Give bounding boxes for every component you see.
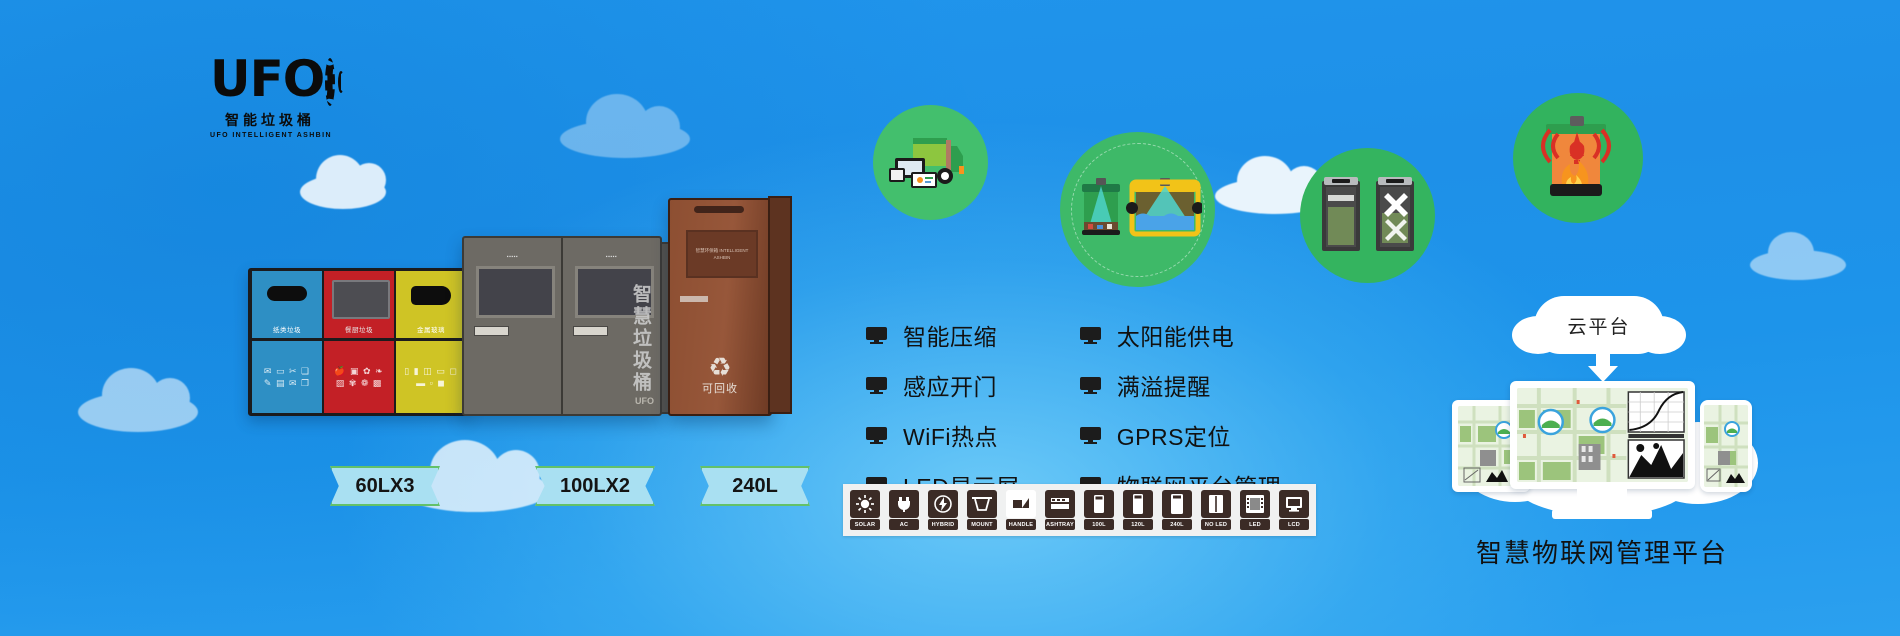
bin-hatch bbox=[476, 266, 556, 318]
product-triple-bin: 纸类垃圾 ✉ ▭ ✂ ❏ ✎ ▤ ✉ ❐ 餐厨垃圾 🍎 ▣ ✿ ❧ ▨ ✾ ❁ … bbox=[248, 268, 470, 416]
product-double-bin: ▪▪▪▪▪ ▪▪▪▪▪ 智慧垃圾桶 UFO bbox=[462, 236, 662, 416]
lcd-icon bbox=[1279, 490, 1309, 518]
bin-half-left: ▪▪▪▪▪ bbox=[464, 238, 563, 414]
bin-panel-paper: 纸类垃圾 ✉ ▭ ✂ ❏ ✎ ▤ ✉ ❐ bbox=[252, 271, 322, 413]
hybrid-bolt-icon bbox=[928, 490, 958, 518]
spec-icon-label: HYBRID bbox=[928, 519, 958, 530]
device-monitor bbox=[1510, 381, 1695, 489]
bin-panel-label: 纸类垃圾 bbox=[273, 324, 301, 338]
phone-screen bbox=[1704, 405, 1748, 487]
feature-circle-fill-level bbox=[1060, 132, 1215, 287]
recycle-label: 可回收 bbox=[670, 380, 770, 396]
product-single-bin: 智慧环保箱 INTELLIGENT ASHBIN ♻ 可回收 bbox=[668, 198, 772, 416]
monitor-stand bbox=[1577, 489, 1627, 511]
spec-icon-no-led: NO LED bbox=[1201, 490, 1231, 530]
feature-list: 智能压缩 感应开门 WiFi热点 LED显示屏 太阳能供电 满溢提醒 bbox=[866, 318, 1281, 502]
garbage-truck-icon bbox=[887, 132, 975, 194]
feature-column-right: 太阳能供电 满溢提醒 GPRS定位 物联网平台管理 bbox=[1080, 318, 1282, 502]
spec-icon-lcd: LCD bbox=[1279, 490, 1309, 530]
spec-icon-led: LED bbox=[1240, 490, 1270, 530]
monitor-icon bbox=[1080, 377, 1101, 394]
spec-icon-ashtray: ASHTRAY bbox=[1045, 490, 1075, 530]
spec-icon-ac: AC bbox=[889, 490, 919, 530]
feature-item: 感应开门 bbox=[866, 368, 1020, 402]
logo-chinese-name: 智能垃圾桶 bbox=[210, 110, 330, 130]
monitor-icon bbox=[866, 327, 887, 344]
feature-label: 智能压缩 bbox=[903, 318, 997, 352]
bin-240l-icon bbox=[1162, 490, 1192, 518]
spec-icon-label: SOLAR bbox=[850, 519, 880, 530]
bin-panel-graphic: ▯ ▮ ◫ ▭ ◻ ▬ ▫ ◼ bbox=[396, 338, 466, 413]
feature-circle-fire-alarm bbox=[1513, 93, 1643, 223]
spec-icon-solar: SOLAR bbox=[850, 490, 880, 530]
cloud-decor bbox=[560, 120, 690, 158]
bin-panel-label: 金属玻璃 bbox=[417, 324, 445, 338]
feature-label: 感应开门 bbox=[903, 368, 997, 402]
feature-column-left: 智能压缩 感应开门 WiFi热点 LED显示屏 bbox=[866, 318, 1020, 502]
bin-side-panel bbox=[768, 196, 792, 414]
led-icon bbox=[1240, 490, 1270, 518]
feature-label: WiFi热点 bbox=[903, 418, 998, 452]
monitor-icon bbox=[866, 377, 887, 394]
platform-caption: 智慧物联网管理平台 bbox=[1432, 533, 1772, 570]
spec-icon-label: ASHTRAY bbox=[1045, 519, 1075, 530]
ufo-ring-icon bbox=[325, 58, 335, 106]
bin-ufo-badge: UFO bbox=[635, 396, 654, 406]
bin-header-text: ▪▪▪▪▪ bbox=[575, 254, 649, 260]
bin-half-right: ▪▪▪▪▪ 智慧垃圾桶 UFO bbox=[563, 238, 660, 414]
monitor-screen bbox=[1517, 388, 1688, 482]
card-slot-icon bbox=[680, 296, 708, 302]
handle-icon bbox=[1006, 490, 1036, 518]
spec-icon-label: 120L bbox=[1123, 519, 1153, 530]
spec-icon-100l: 100L bbox=[1084, 490, 1114, 530]
monitor-icon bbox=[866, 427, 887, 444]
feature-item: 太阳能供电 bbox=[1080, 318, 1282, 352]
capacity-banner-240l: 240L bbox=[700, 466, 810, 506]
capacity-banner-60lx3: 60LX3 bbox=[330, 466, 440, 506]
spec-icon-120l: 120L bbox=[1123, 490, 1153, 530]
feature-label: GPRS定位 bbox=[1117, 418, 1231, 452]
bin-fill-sensor-icon bbox=[1074, 172, 1202, 248]
spec-icon-label: 240L bbox=[1162, 519, 1192, 530]
spec-icon-label: MOUNT bbox=[967, 519, 997, 530]
spec-icon-mount: MOUNT bbox=[967, 490, 997, 530]
iot-platform-illustration: 云平台 bbox=[1452, 296, 1752, 546]
feature-item: WiFi热点 bbox=[866, 418, 1020, 452]
spec-icon-240l: 240L bbox=[1162, 490, 1192, 530]
cloud-decor bbox=[300, 175, 386, 209]
lid-slot-icon bbox=[694, 206, 744, 213]
cloud-decor bbox=[78, 392, 198, 432]
cloud-platform-label: 云平台 bbox=[1567, 312, 1630, 339]
capacity-banner-100lx2: 100LX2 bbox=[535, 466, 655, 506]
bin-panel-label: 餐厨垃圾 bbox=[345, 324, 373, 338]
monitor-base bbox=[1552, 509, 1652, 519]
brand-logo: UFO 智能垃圾桶 UFO INTELLIGENT ASHBIN bbox=[210, 58, 330, 139]
no-led-icon bbox=[1201, 490, 1231, 518]
waste-slot-icon bbox=[267, 286, 306, 301]
card-slot-icon bbox=[573, 326, 608, 336]
spec-icon-label: 100L bbox=[1084, 519, 1114, 530]
bin-display-screen bbox=[332, 280, 389, 319]
bin-panel-graphic: ✉ ▭ ✂ ❏ ✎ ▤ ✉ ❐ bbox=[252, 338, 322, 413]
spec-icon-label: HANDLE bbox=[1006, 519, 1036, 530]
compaction-bins-icon bbox=[1316, 173, 1420, 259]
spec-icon-handle: HANDLE bbox=[1006, 490, 1036, 530]
spec-icon-label: AC bbox=[889, 519, 919, 530]
banner-stage: UFO 智能垃圾桶 UFO INTELLIGENT ASHBIN 纸类垃圾 ✉ … bbox=[0, 0, 1900, 636]
card-slot-icon bbox=[474, 326, 509, 336]
monitor-icon bbox=[1080, 327, 1101, 344]
recycle-icon: ♻ bbox=[670, 354, 770, 380]
bin-120l-icon bbox=[1123, 490, 1153, 518]
monitor-icon bbox=[1080, 427, 1101, 444]
bin-panel-kitchen: 餐厨垃圾 🍎 ▣ ✿ ❧ ▨ ✾ ❁ ▩ bbox=[324, 271, 394, 413]
bin-panel-graphic: 🍎 ▣ ✿ ❧ ▨ ✾ ❁ ▩ bbox=[324, 338, 394, 413]
logo-mark: UFO bbox=[210, 58, 330, 106]
feature-circle-fleet-management bbox=[873, 105, 988, 220]
feature-circle-compaction bbox=[1300, 148, 1435, 283]
waste-slot-icon bbox=[411, 286, 450, 305]
spec-icon-label: LED bbox=[1240, 519, 1270, 530]
cloud-decor bbox=[1750, 250, 1846, 280]
logo-wordmark: UFO bbox=[210, 58, 324, 100]
sun-icon bbox=[850, 490, 880, 518]
feature-item: 满溢提醒 bbox=[1080, 368, 1282, 402]
feature-item: GPRS定位 bbox=[1080, 418, 1282, 452]
bin-header-text: ▪▪▪▪▪ bbox=[476, 254, 550, 260]
bin-panel-metal-glass: 金属玻璃 ▯ ▮ ◫ ▭ ◻ ▬ ▫ ◼ bbox=[396, 271, 466, 413]
bin-screen-text: 智慧环保箱 INTELLIGENT ASHBIN bbox=[688, 247, 756, 261]
mount-icon bbox=[967, 490, 997, 518]
ashtray-icon bbox=[1045, 490, 1075, 518]
feature-label: 太阳能供电 bbox=[1117, 318, 1235, 352]
feature-label: 满溢提醒 bbox=[1117, 368, 1211, 402]
fire-alarm-bin-icon bbox=[1528, 110, 1628, 206]
bin-body-text: 智慧垃圾桶 bbox=[627, 284, 654, 394]
spec-icon-label: NO LED bbox=[1201, 519, 1231, 530]
device-phone bbox=[1700, 400, 1752, 492]
plug-icon bbox=[889, 490, 919, 518]
spec-icon-hybrid: HYBRID bbox=[928, 490, 958, 530]
spec-icon-label: LCD bbox=[1279, 519, 1309, 530]
bin-100l-icon bbox=[1084, 490, 1114, 518]
logo-english-name: UFO INTELLIGENT ASHBIN bbox=[210, 132, 330, 139]
cloud-platform-badge: 云平台 bbox=[1534, 296, 1664, 354]
spec-icon-strip: SOLAR AC HYBRID MOUNT bbox=[843, 484, 1316, 536]
bin-display-screen: 智慧环保箱 INTELLIGENT ASHBIN bbox=[686, 230, 758, 278]
feature-item: 智能压缩 bbox=[866, 318, 1020, 352]
